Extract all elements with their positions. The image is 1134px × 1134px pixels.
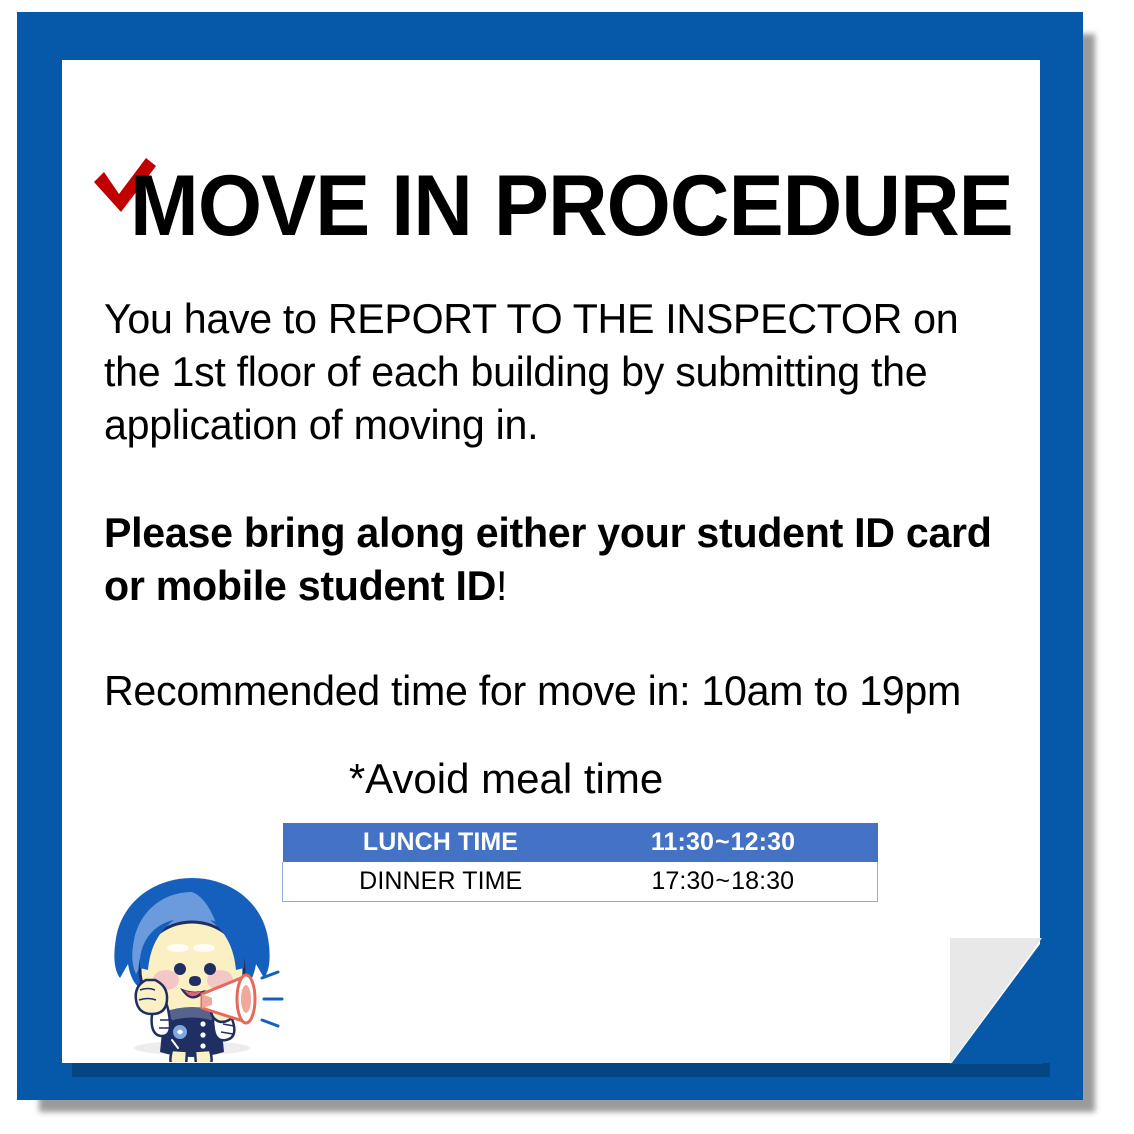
avoid-meal-time-note: *Avoid meal time <box>0 754 978 804</box>
paragraph-gap-2 <box>104 612 1024 664</box>
meal-time-dinner-separator: ~ <box>715 867 730 895</box>
meal-time-lunch: 11:30~12:30 <box>591 823 878 862</box>
meal-time-lunch-end: 12:30 <box>731 828 795 856</box>
paragraph-bring-id-text: Please bring along either your student I… <box>104 509 992 609</box>
paragraph-bring-id-exclamation: ! <box>496 562 507 609</box>
paragraph-intro: You have to REPORT TO THE INSPECTOR on t… <box>104 292 1006 451</box>
meal-time-dinner-end: 18:30 <box>731 867 794 895</box>
meal-label-lunch: LUNCH TIME <box>283 823 591 862</box>
notice-body: You have to REPORT TO THE INSPECTOR on t… <box>104 292 1024 717</box>
table-row: LUNCH TIME 11:30~12:30 <box>283 823 878 862</box>
table-row: DINNER TIME 17:30~18:30 <box>283 862 878 902</box>
card-bottom-shadow <box>72 1063 1050 1077</box>
page-title: MOVE IN PROCEDURE <box>130 158 1013 254</box>
student-mascot-with-megaphone-icon <box>84 872 299 1062</box>
notice-poster: MOVE IN PROCEDURE You have to REPORT TO … <box>0 0 1134 1134</box>
meal-time-dinner: 17:30~18:30 <box>591 862 878 902</box>
meal-time-table: LUNCH TIME 11:30~12:30 DINNER TIME 17:30… <box>282 823 878 902</box>
paragraph-recommended-time: Recommended time for move in: 10am to 19… <box>104 664 1006 717</box>
page-curl-cut <box>951 940 1043 1064</box>
paragraph-gap-1 <box>104 451 1024 506</box>
meal-time-lunch-separator: ~ <box>715 828 730 856</box>
title-row: MOVE IN PROCEDURE <box>104 158 1004 263</box>
meal-label-dinner: DINNER TIME <box>283 862 591 902</box>
meal-time-lunch-start: 11:30 <box>651 828 714 856</box>
paragraph-bring-id: Please bring along either your student I… <box>104 506 1006 612</box>
meal-time-dinner-start: 17:30 <box>651 867 714 895</box>
